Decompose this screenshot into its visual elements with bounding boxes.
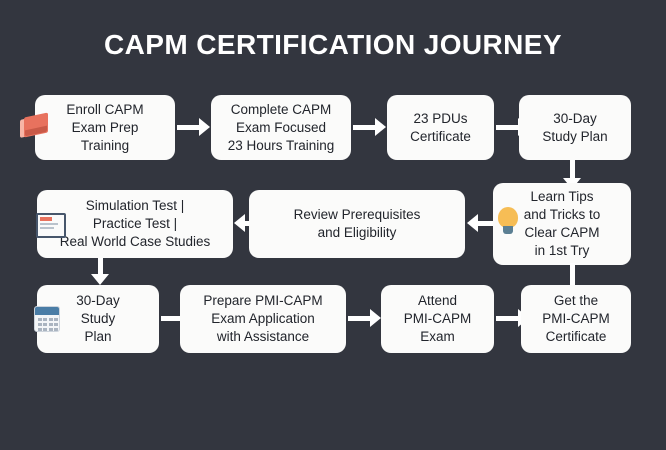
node-review[interactable]: Review Prerequisites and Eligibility	[249, 190, 465, 258]
node-simulation[interactable]: Simulation Test | Practice Test | Real W…	[37, 190, 233, 258]
node-prepare[interactable]: Prepare PMI-CAPM Exam Application with A…	[180, 285, 346, 353]
node-complete[interactable]: Complete CAPM Exam Focused 23 Hours Trai…	[211, 95, 351, 160]
arrowhead-complete-pdus	[375, 118, 386, 136]
connector-enroll-complete	[177, 125, 201, 130]
node-complete-label: Complete CAPM Exam Focused 23 Hours Trai…	[217, 101, 345, 155]
node-study-plan-1-label: 30-Day Study Plan	[525, 110, 625, 146]
flowchart-canvas: CAPM CERTIFICATION JOURNEY Enroll CAPM E…	[0, 0, 666, 450]
node-pdus-label: 23 PDUs Certificate	[393, 110, 488, 146]
connector-attend-getcert	[496, 316, 520, 321]
node-get-cert[interactable]: Get the PMI-CAPM Certificate	[521, 285, 631, 353]
node-attend[interactable]: Attend PMI-CAPM Exam	[381, 285, 494, 353]
node-pdus[interactable]: 23 PDUs Certificate	[387, 95, 494, 160]
connector-learntips-getcert	[570, 263, 575, 285]
connector-pdus-studyplan1	[496, 125, 520, 130]
arrowhead-learntips-review	[467, 214, 478, 232]
node-review-label: Review Prerequisites and Eligibility	[255, 206, 459, 242]
arrowhead-prepare-attend	[370, 309, 381, 327]
page-title: CAPM CERTIFICATION JOURNEY	[0, 28, 666, 62]
arrowhead-enroll-complete	[199, 118, 210, 136]
node-study-plan-1[interactable]: 30-Day Study Plan	[519, 95, 631, 160]
card-icon	[36, 213, 66, 238]
connector-complete-pdus	[353, 125, 377, 130]
connector-prepare-attend	[348, 316, 372, 321]
node-enroll[interactable]: Enroll CAPM Exam Prep Training	[35, 95, 175, 160]
lightbulb-icon	[496, 207, 520, 237]
node-get-cert-label: Get the PMI-CAPM Certificate	[527, 292, 625, 346]
arrowhead-simulation-studyplan2	[91, 274, 109, 285]
node-simulation-label: Simulation Test | Practice Test | Real W…	[43, 197, 227, 251]
node-attend-label: Attend PMI-CAPM Exam	[387, 292, 488, 346]
arrowhead-review-simulation	[234, 214, 245, 232]
book-icon	[20, 113, 50, 139]
node-enroll-label: Enroll CAPM Exam Prep Training	[41, 101, 169, 155]
calendar-icon	[34, 306, 60, 332]
node-prepare-label: Prepare PMI-CAPM Exam Application with A…	[186, 292, 340, 346]
